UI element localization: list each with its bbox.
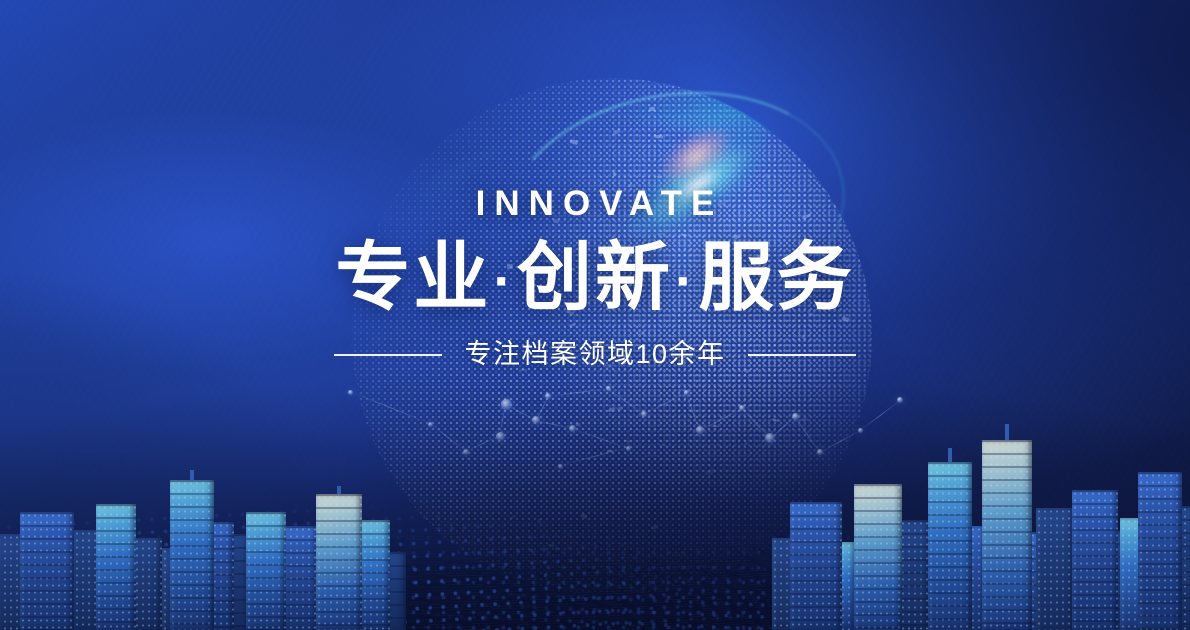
building xyxy=(854,484,902,630)
banner-content: INNOVATE 专业·创新·服务 专注档案领域10余年 xyxy=(0,186,1190,368)
headline-part-2: 创新 xyxy=(517,235,673,319)
banner-headline: 专业·创新·服务 xyxy=(0,240,1190,315)
building xyxy=(170,480,214,630)
banner-subline: 专注档案领域10余年 xyxy=(0,341,1190,368)
building-antenna xyxy=(337,486,341,494)
building-windows xyxy=(1036,508,1074,630)
headline-part-3: 服务 xyxy=(699,235,855,319)
building xyxy=(928,462,972,630)
building-floor-bands xyxy=(170,480,214,630)
building xyxy=(316,494,362,630)
building xyxy=(1072,490,1118,630)
building xyxy=(1036,508,1074,630)
building-floor-bands xyxy=(928,462,972,630)
building xyxy=(790,502,842,630)
building-antenna xyxy=(190,470,194,480)
divider-rule-left xyxy=(334,354,442,356)
building xyxy=(982,440,1032,630)
building-floor-bands xyxy=(982,440,1032,630)
banner-subtitle: 专注档案领域10余年 xyxy=(464,341,725,368)
banner-eyebrow: INNOVATE xyxy=(0,186,1190,221)
building-floor-bands xyxy=(20,512,74,630)
building-floor-bands xyxy=(96,504,136,630)
building xyxy=(96,504,136,630)
building-antenna xyxy=(948,448,952,462)
building-floor-bands xyxy=(316,494,362,630)
building xyxy=(1138,472,1182,630)
headline-part-1: 专业 xyxy=(335,235,491,319)
divider-rule-right xyxy=(748,354,856,356)
building-floor-bands xyxy=(790,502,842,630)
building-floor-bands xyxy=(1138,472,1182,630)
building xyxy=(20,512,74,630)
headline-separator-1: · xyxy=(491,249,517,312)
building-floor-bands xyxy=(854,484,902,630)
building xyxy=(282,526,318,630)
building xyxy=(246,512,286,630)
headline-separator-2: · xyxy=(673,249,699,312)
building-antenna xyxy=(1005,424,1009,440)
building-floor-bands xyxy=(282,526,318,630)
building-floor-bands xyxy=(246,512,286,630)
hero-banner: INNOVATE 专业·创新·服务 专注档案领域10余年 xyxy=(0,0,1190,630)
building-floor-bands xyxy=(1072,490,1118,630)
